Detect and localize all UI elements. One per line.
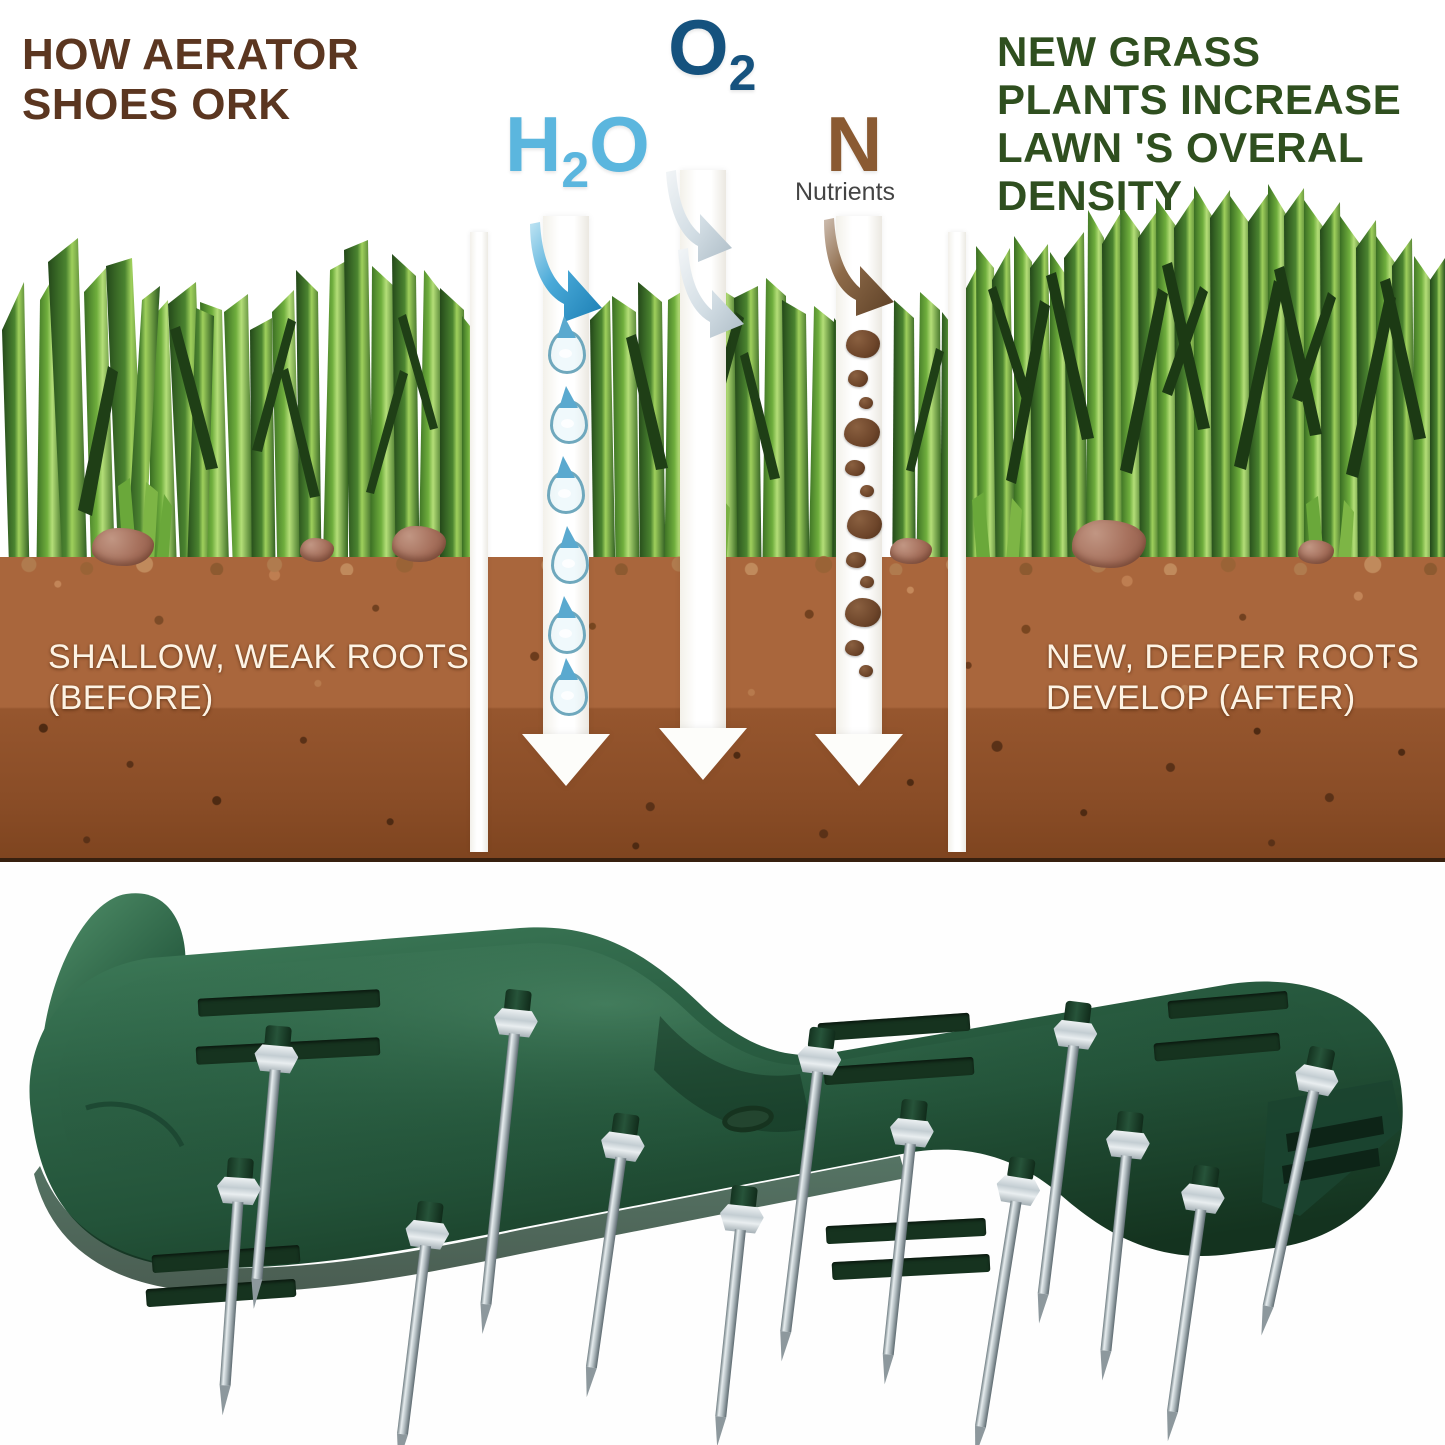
nutrient-pellet (845, 640, 864, 656)
water-droplet (551, 540, 589, 584)
water-droplet (548, 330, 586, 374)
nutrient-pellet (859, 397, 873, 409)
nutrient-pellet (859, 665, 873, 677)
oxygen-formula-o: O (668, 3, 729, 91)
rock (890, 538, 932, 564)
rock (392, 526, 446, 562)
nutrient-pellet (860, 576, 874, 588)
spike-point (218, 1385, 231, 1416)
oxygen-inflow-arrow-lower (676, 246, 756, 338)
water-droplet (548, 610, 586, 654)
water-droplet (550, 672, 588, 716)
product-photo-aerator-sandal (0, 866, 1445, 1445)
water-droplet (550, 400, 588, 444)
nutrient-pellet (845, 460, 865, 476)
oxygen-formula-subscript: 2 (729, 45, 757, 101)
nutrient-pellet (848, 370, 868, 387)
nutrient-pellet (845, 598, 881, 627)
rock (1072, 520, 1146, 568)
page-title-left: HOW AERATOR SHOES ORK (22, 30, 442, 130)
rock (92, 528, 154, 566)
nutrient-pellet (847, 510, 882, 539)
nutrient-pellet (860, 485, 874, 497)
nutrient-pellet (846, 330, 880, 358)
water-droplet (547, 470, 585, 514)
infographic-page: HOW AERATOR SHOES ORK NEW GRASS PLANTS I… (0, 0, 1445, 1445)
nutrient-pellet (846, 552, 866, 568)
water-formula-o: O (589, 100, 650, 188)
soil-caption-after: NEW, DEEPER ROOTS DEVELOP (AFTER) (1046, 637, 1419, 720)
soil-divider-left (470, 232, 488, 852)
oxygen-formula-label: O2 (668, 8, 756, 98)
nutrient-pellet (844, 418, 880, 447)
water-inflow-arrow (524, 218, 620, 326)
soil-divider-right (948, 232, 966, 852)
water-formula-subscript: 2 (561, 142, 589, 198)
rock (1298, 540, 1334, 564)
soil-caption-before: SHALLOW, WEAK ROOTS (BEFORE) (48, 637, 469, 720)
nitrogen-formula-label: N (826, 105, 882, 183)
nutrient-inflow-arrow (818, 216, 910, 320)
page-title-right: NEW GRASS PLANTS INCREASE LAWN 'S OVERAL… (997, 28, 1427, 220)
water-formula-h: H (505, 100, 561, 188)
water-formula-label: H2O (505, 105, 650, 195)
nutrients-caption: Nutrients (795, 178, 895, 207)
aeration-diagram: HOW AERATOR SHOES ORK NEW GRASS PLANTS I… (0, 0, 1445, 865)
grass-blades (962, 184, 1445, 600)
rock (300, 538, 334, 562)
